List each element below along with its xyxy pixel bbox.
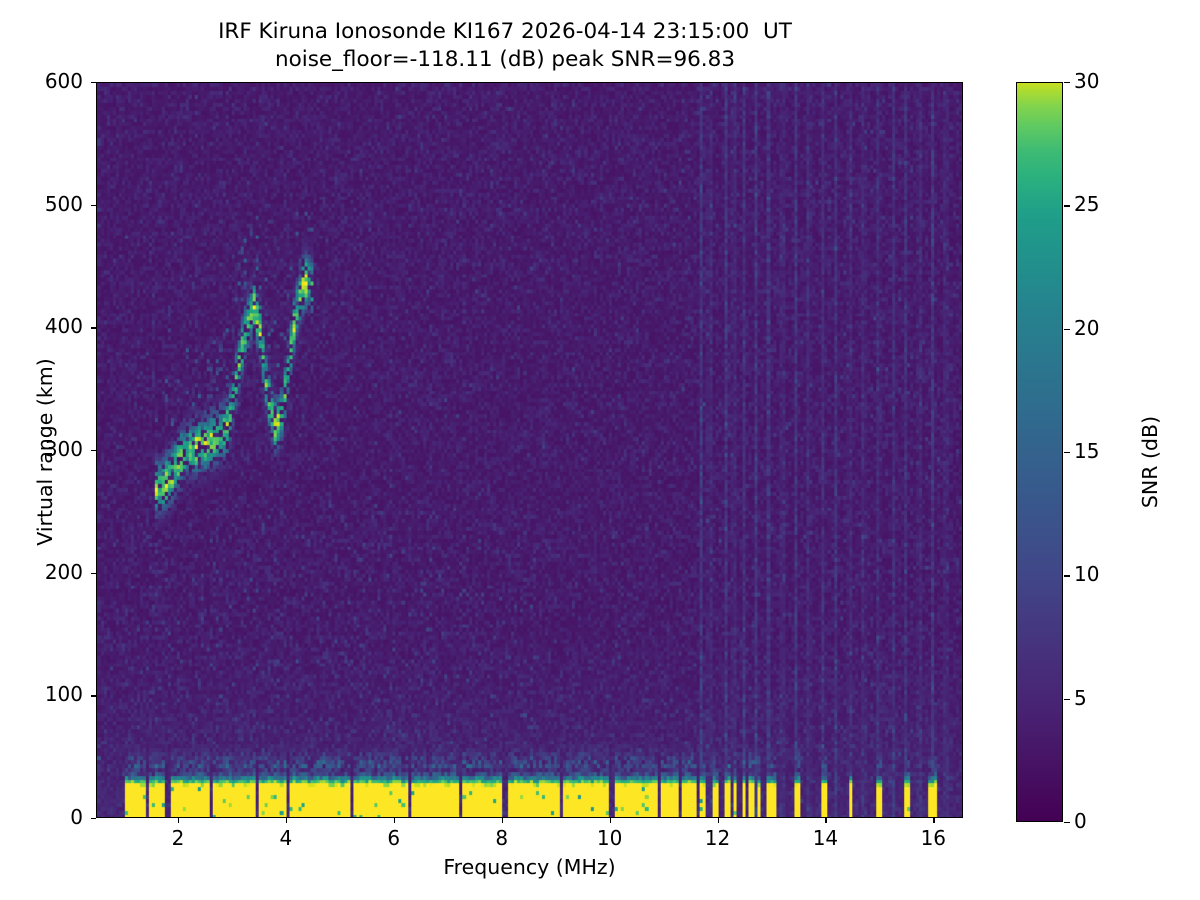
colorbar bbox=[1016, 82, 1063, 822]
title-line-2: noise_floor=-118.11 (dB) peak SNR=96.83 bbox=[0, 46, 1010, 74]
y-tick-label: 0 bbox=[0, 805, 83, 829]
colorbar-gradient bbox=[1017, 83, 1062, 821]
ionogram-heatmap-canvas bbox=[97, 83, 962, 817]
x-tick-label: 14 bbox=[795, 826, 855, 850]
colorbar-label: SNR (dB) bbox=[1138, 292, 1162, 632]
colorbar-tick bbox=[1064, 452, 1070, 453]
colorbar-tick bbox=[1064, 575, 1070, 576]
x-tick-label: 6 bbox=[364, 826, 424, 850]
y-tick-label: 600 bbox=[0, 69, 83, 93]
colorbar-tick bbox=[1064, 205, 1070, 206]
y-tick bbox=[91, 450, 96, 451]
colorbar-tick bbox=[1064, 699, 1070, 700]
ionogram-plot-area bbox=[96, 82, 963, 818]
y-tick bbox=[91, 205, 96, 206]
colorbar-tick-label: 10 bbox=[1074, 562, 1099, 586]
colorbar-tick-label: 0 bbox=[1074, 809, 1087, 833]
title-line-1: IRF Kiruna Ionosonde KI167 2026-04-14 23… bbox=[0, 18, 1010, 46]
x-tick bbox=[825, 818, 826, 823]
x-tick bbox=[610, 818, 611, 823]
y-tick-label: 500 bbox=[0, 192, 83, 216]
y-tick bbox=[91, 818, 96, 819]
x-tick-label: 16 bbox=[903, 826, 963, 850]
x-tick bbox=[718, 818, 719, 823]
x-tick bbox=[502, 818, 503, 823]
x-axis-label: Frequency (MHz) bbox=[96, 855, 963, 879]
x-tick bbox=[394, 818, 395, 823]
figure-title: IRF Kiruna Ionosonde KI167 2026-04-14 23… bbox=[0, 18, 1010, 73]
colorbar-tick bbox=[1064, 329, 1070, 330]
colorbar-tick bbox=[1064, 82, 1070, 83]
colorbar-tick-label: 25 bbox=[1074, 192, 1099, 216]
y-tick-label: 100 bbox=[0, 682, 83, 706]
y-axis-label: Virtual range (km) bbox=[33, 252, 57, 652]
colorbar-tick bbox=[1064, 822, 1070, 823]
ionogram-figure: IRF Kiruna Ionosonde KI167 2026-04-14 23… bbox=[0, 0, 1200, 900]
x-tick-label: 2 bbox=[148, 826, 208, 850]
x-tick-label: 4 bbox=[256, 826, 316, 850]
colorbar-tick-label: 30 bbox=[1074, 69, 1099, 93]
colorbar-tick-label: 20 bbox=[1074, 316, 1099, 340]
y-tick bbox=[91, 327, 96, 328]
colorbar-tick-label: 5 bbox=[1074, 686, 1087, 710]
x-tick bbox=[933, 818, 934, 823]
x-tick-label: 8 bbox=[472, 826, 532, 850]
y-tick bbox=[91, 573, 96, 574]
x-tick bbox=[178, 818, 179, 823]
y-tick bbox=[91, 695, 96, 696]
y-tick bbox=[91, 82, 96, 83]
colorbar-tick-label: 15 bbox=[1074, 439, 1099, 463]
x-tick bbox=[286, 818, 287, 823]
x-tick-label: 10 bbox=[580, 826, 640, 850]
x-tick-label: 12 bbox=[688, 826, 748, 850]
